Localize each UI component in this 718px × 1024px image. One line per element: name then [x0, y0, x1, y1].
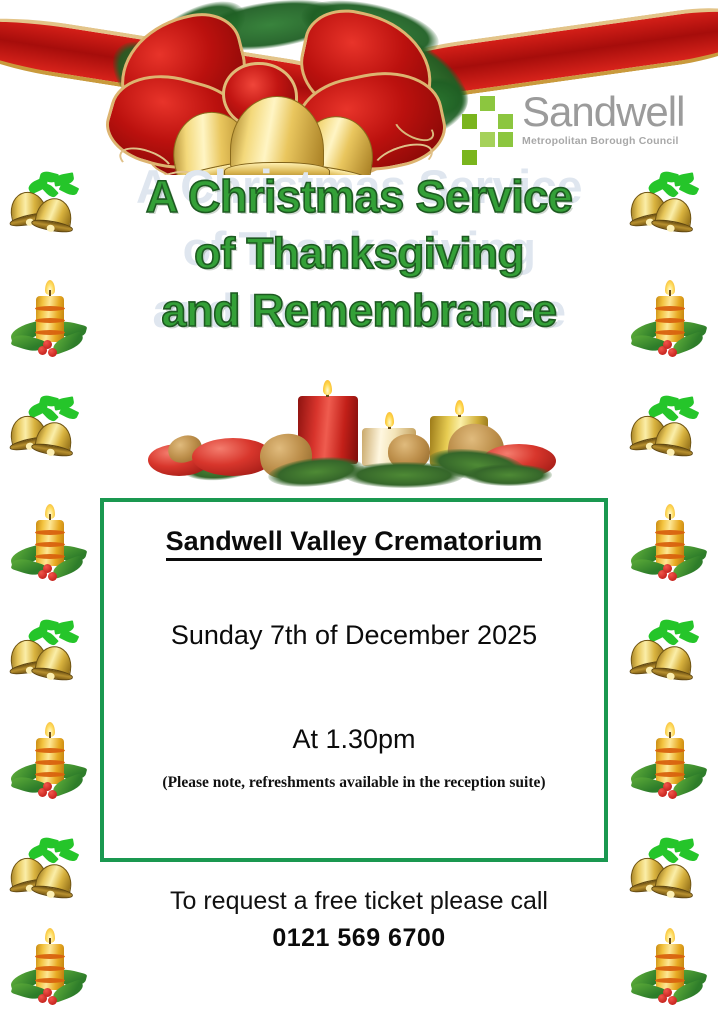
holly-bells-ornament	[628, 616, 706, 694]
holly-candle-ornament	[628, 928, 706, 1006]
holly-bells-ornament	[8, 616, 86, 694]
holly-berry-icon	[48, 996, 57, 1005]
holly-bells-ornament	[628, 834, 706, 912]
pine-foliage-icon	[466, 464, 552, 486]
logo-square	[462, 114, 477, 129]
candle-flame-icon	[455, 400, 464, 415]
candle-flame-icon	[323, 380, 332, 395]
bell-icon	[653, 861, 692, 900]
christmas-centerpiece-image	[148, 378, 568, 484]
sandwell-council-logo: Sandwell Metropolitan Borough Council	[462, 92, 706, 162]
holly-berry-icon	[663, 782, 672, 791]
gold-curl-icon	[389, 107, 438, 147]
bell-icon	[33, 861, 72, 900]
venue-name-text: Sandwell Valley Crematorium	[166, 526, 543, 561]
bell-icon	[653, 643, 692, 682]
holly-berry-icon	[48, 572, 57, 581]
holly-bells-ornament	[8, 834, 86, 912]
title-line-2: of Thanksgiving	[0, 225, 718, 282]
logo-subtitle: Metropolitan Borough Council	[522, 135, 706, 147]
holly-candle-ornament	[628, 722, 706, 800]
holly-bells-ornament	[8, 392, 86, 470]
bell-icon	[33, 419, 72, 458]
holly-candle-ornament	[8, 722, 86, 800]
service-time: At 1.30pm	[104, 724, 604, 755]
bow-loop-upper-right	[291, 1, 444, 131]
bell-icon	[653, 419, 692, 458]
holly-berry-icon	[43, 782, 52, 791]
title-main-layer: A Christmas Service of Thanksgiving and …	[0, 168, 718, 339]
holly-berry-icon	[663, 988, 672, 997]
holly-berry-icon	[668, 996, 677, 1005]
bow-knot	[222, 62, 298, 130]
logo-square	[480, 96, 495, 111]
ticket-request-line: To request a free ticket please call	[0, 884, 718, 918]
sandwell-logo-mark-icon	[462, 96, 514, 154]
refreshments-note: (Please note, refreshments available in …	[104, 774, 604, 792]
service-date: Sunday 7th of December 2025	[104, 620, 604, 651]
ticket-request-footer: To request a free ticket please call 012…	[0, 884, 718, 958]
pine-sprig-icon	[134, 0, 256, 85]
holly-berry-icon	[43, 988, 52, 997]
venue-name: Sandwell Valley Crematorium	[104, 526, 604, 557]
logo-square	[498, 114, 513, 129]
logo-square	[480, 132, 495, 147]
logo-square	[498, 132, 513, 147]
pine-sprig-icon	[296, 0, 443, 68]
contact-phone-number: 0121 569 6700	[0, 918, 718, 958]
pine-sprig-icon	[193, 0, 348, 58]
holly-bells-ornament	[628, 392, 706, 470]
candle-flame-icon	[385, 412, 394, 427]
holly-berry-icon	[48, 790, 57, 799]
service-details-box: Sandwell Valley Crematorium Sunday 7th o…	[100, 498, 608, 862]
christmas-service-poster: Sandwell Metropolitan Borough Council A …	[0, 0, 718, 1024]
title-line-1: A Christmas Service	[0, 168, 718, 225]
poster-title: A Christmas Service of Thanksgiving and …	[0, 168, 718, 339]
bow-loop-upper-left	[108, 4, 257, 134]
holly-berry-icon	[663, 564, 672, 573]
bell-icon	[33, 643, 72, 682]
holly-candle-ornament	[8, 504, 86, 582]
holly-berry-icon	[668, 348, 677, 357]
pine-sprig-icon	[98, 26, 212, 138]
holly-berry-icon	[43, 564, 52, 573]
holly-berry-icon	[668, 790, 677, 799]
holly-berry-icon	[668, 572, 677, 581]
holly-candle-ornament	[628, 504, 706, 582]
holly-candle-ornament	[8, 928, 86, 1006]
logo-wordmark: Sandwell	[522, 90, 706, 134]
holly-berry-icon	[48, 348, 57, 357]
ribbon-streamer-left	[0, 5, 367, 124]
title-line-3: and Remembrance	[0, 282, 718, 339]
